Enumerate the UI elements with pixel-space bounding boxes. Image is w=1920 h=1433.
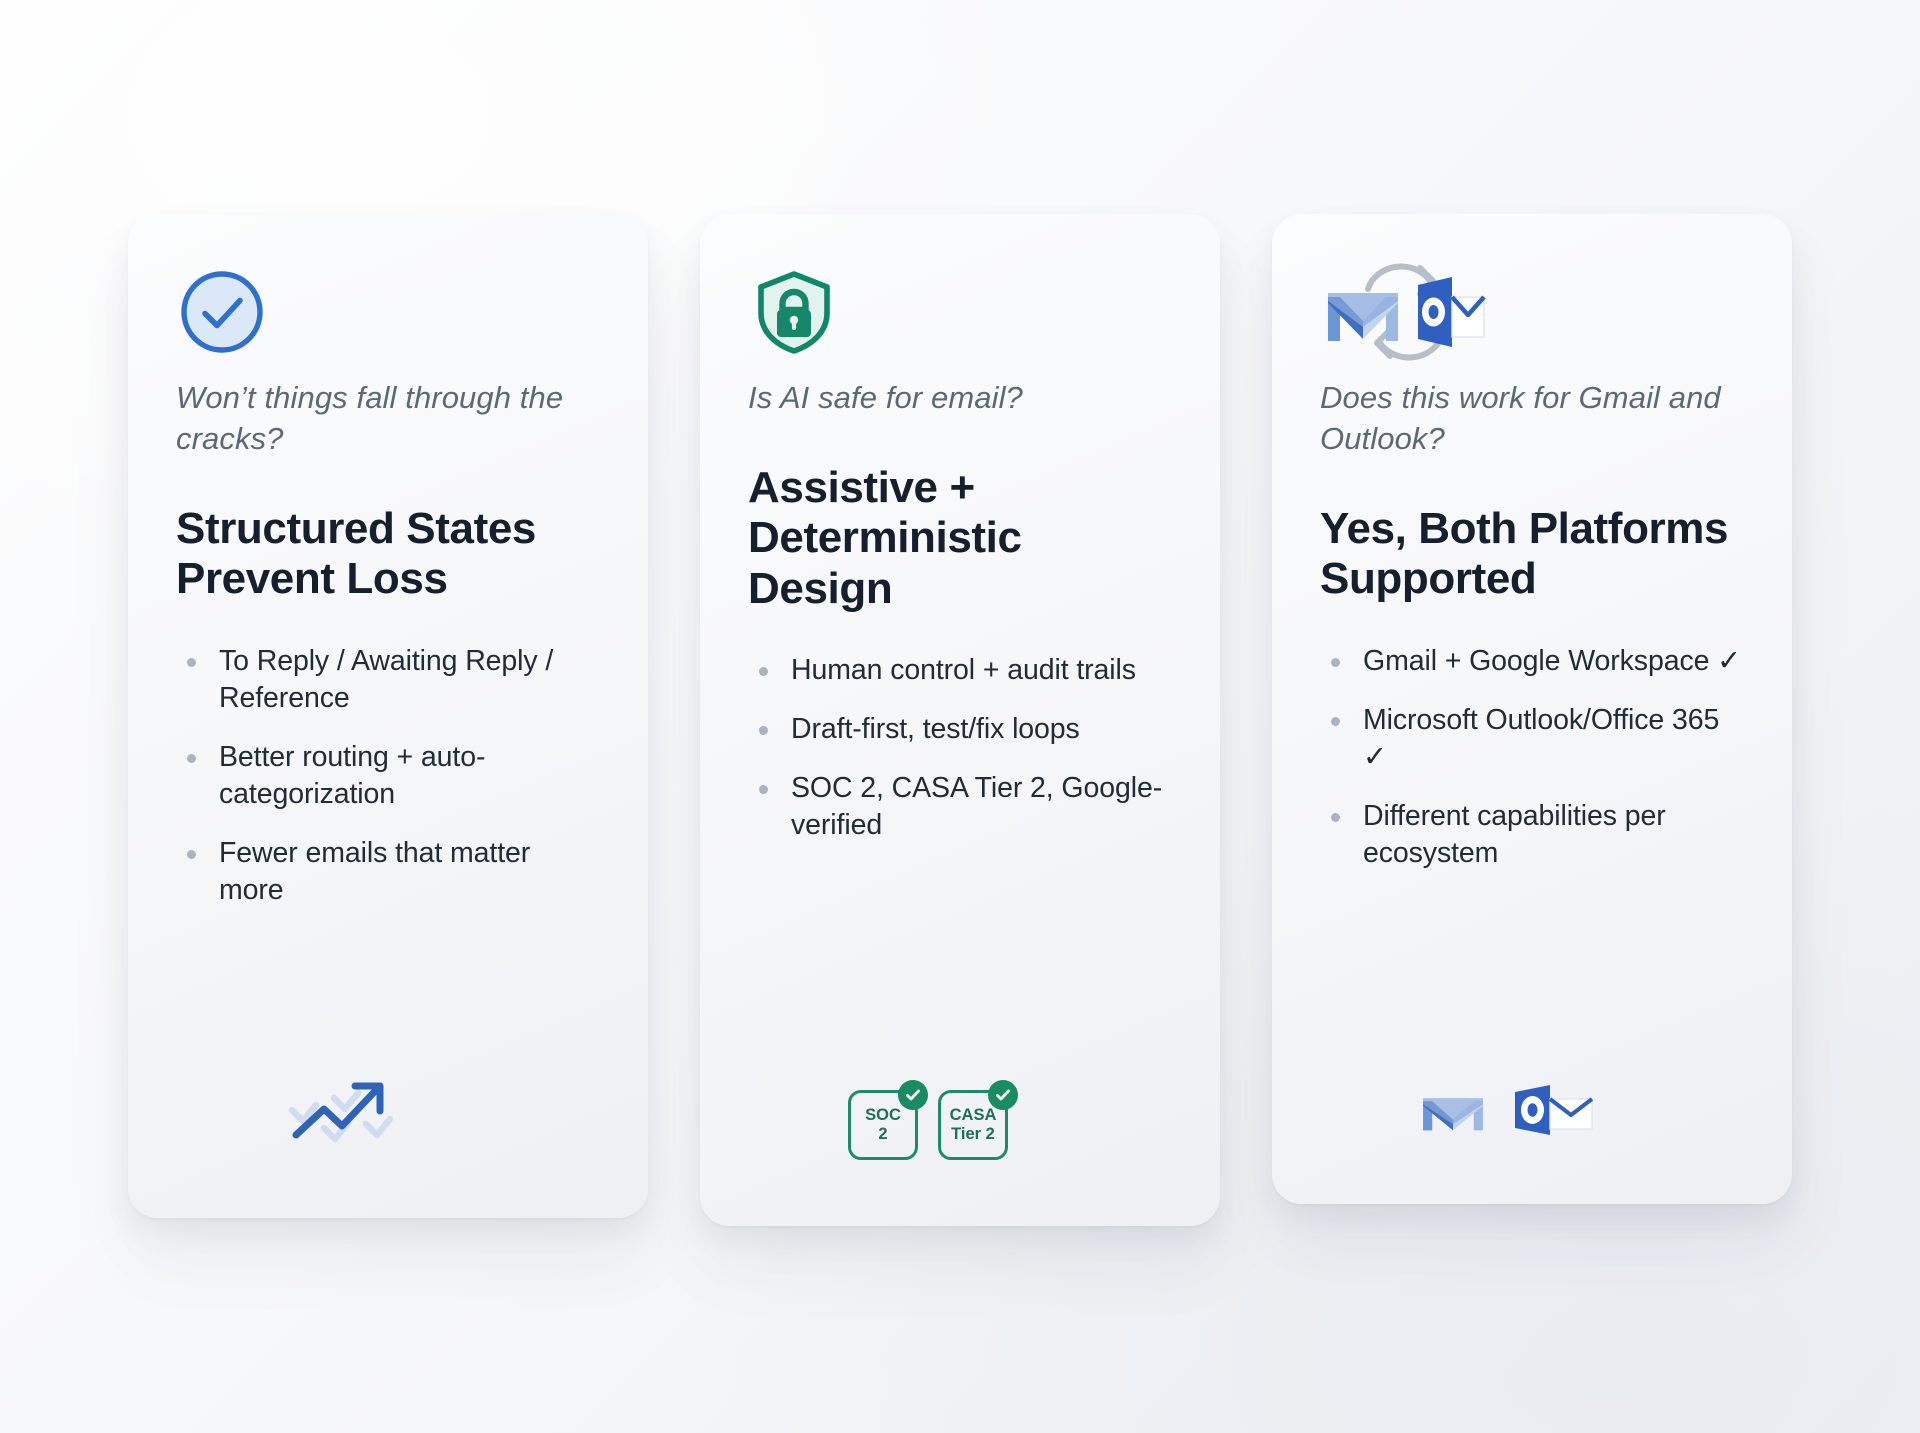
verified-check-icon xyxy=(988,1080,1018,1110)
card-bullet-list: Gmail + Google Workspace ✓ Microsoft Out… xyxy=(1320,643,1744,872)
card-bullet-list: Human control + audit trails Draft-first… xyxy=(748,652,1172,844)
faq-card-assistive-design[interactable]: Is AI safe for email? Assistive + Determ… xyxy=(700,214,1220,1226)
card-icon-slot xyxy=(748,260,1172,364)
card-headline: Structured States Prevent Loss xyxy=(176,504,596,605)
trend-up-arrow-icon xyxy=(286,1074,410,1152)
list-item: SOC 2, CASA Tier 2, Google-verified xyxy=(748,770,1172,844)
card-question: Won’t things fall through the cracks? xyxy=(176,378,596,460)
verified-check-icon xyxy=(898,1080,928,1110)
check-circle-icon xyxy=(176,266,268,358)
card-headline: Yes, Both Platforms Supported xyxy=(1320,504,1740,605)
card-icon-slot xyxy=(176,260,600,364)
compliance-badge-soc2: SOC 2 xyxy=(848,1090,918,1160)
gmail-logo-icon xyxy=(1420,1086,1486,1138)
list-item: Different capabilities per ecosystem xyxy=(1320,798,1744,872)
card-question: Is AI safe for email? xyxy=(748,378,1168,419)
shield-lock-icon xyxy=(748,266,840,358)
list-item: Microsoft Outlook/Office 365 ✓ xyxy=(1320,702,1744,776)
slide-canvas: Won’t things fall through the cracks? St… xyxy=(0,0,1920,1433)
card-headline: Assistive + Deterministic Design xyxy=(748,463,1168,614)
faq-card-row: Won’t things fall through the cracks? St… xyxy=(128,214,1792,1226)
list-item: Gmail + Google Workspace ✓ xyxy=(1320,643,1744,680)
card-bullet-list: To Reply / Awaiting Reply / Reference Be… xyxy=(176,643,600,909)
card-footer-art: SOC 2 CASA Tier 2 xyxy=(748,1082,1172,1160)
card-footer-art xyxy=(176,1074,600,1152)
card-question: Does this work for Gmail and Outlook? xyxy=(1320,378,1740,460)
badge-line-2: Tier 2 xyxy=(951,1125,995,1144)
gmail-outlook-sync-icon xyxy=(1320,263,1490,361)
compliance-badge-casa-tier2: CASA Tier 2 xyxy=(938,1090,1008,1160)
badge-line-1: SOC xyxy=(865,1106,901,1125)
card-icon-slot xyxy=(1320,260,1744,364)
list-item: To Reply / Awaiting Reply / Reference xyxy=(176,643,600,717)
list-item: Human control + audit trails xyxy=(748,652,1172,689)
faq-card-both-platforms[interactable]: Does this work for Gmail and Outlook? Ye… xyxy=(1272,214,1792,1204)
badge-line-2: 2 xyxy=(878,1125,887,1144)
list-item: Fewer emails that matter more xyxy=(176,835,600,909)
faq-card-structured-states[interactable]: Won’t things fall through the cracks? St… xyxy=(128,214,648,1218)
outlook-logo-icon xyxy=(1512,1082,1596,1138)
list-item: Draft-first, test/fix loops xyxy=(748,711,1172,748)
card-footer-art xyxy=(1320,1060,1744,1138)
list-item: Better routing + auto-categorization xyxy=(176,739,600,813)
badge-line-1: CASA xyxy=(950,1106,997,1125)
